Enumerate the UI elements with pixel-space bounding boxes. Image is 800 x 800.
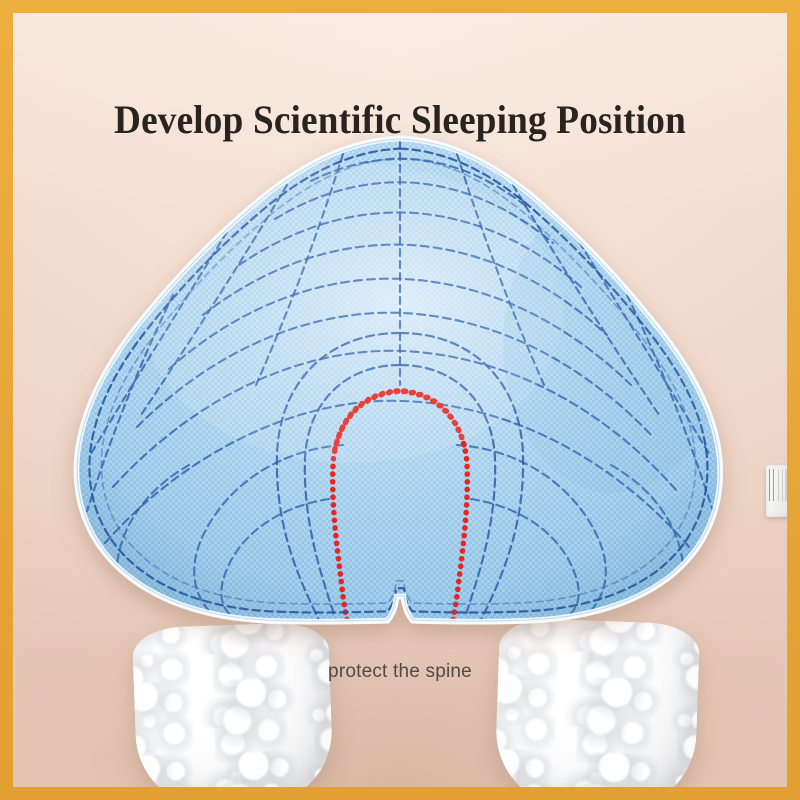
caption-protect-the-spine: protect the spine [13, 661, 787, 683]
photo-area: Develop Scientific Sleeping Position pro… [13, 13, 787, 787]
care-label-text [766, 465, 787, 517]
product-image-canvas: Develop Scientific Sleeping Position pro… [0, 0, 800, 800]
care-label [766, 465, 787, 517]
page-title: Develop Scientific Sleeping Position [40, 97, 760, 143]
